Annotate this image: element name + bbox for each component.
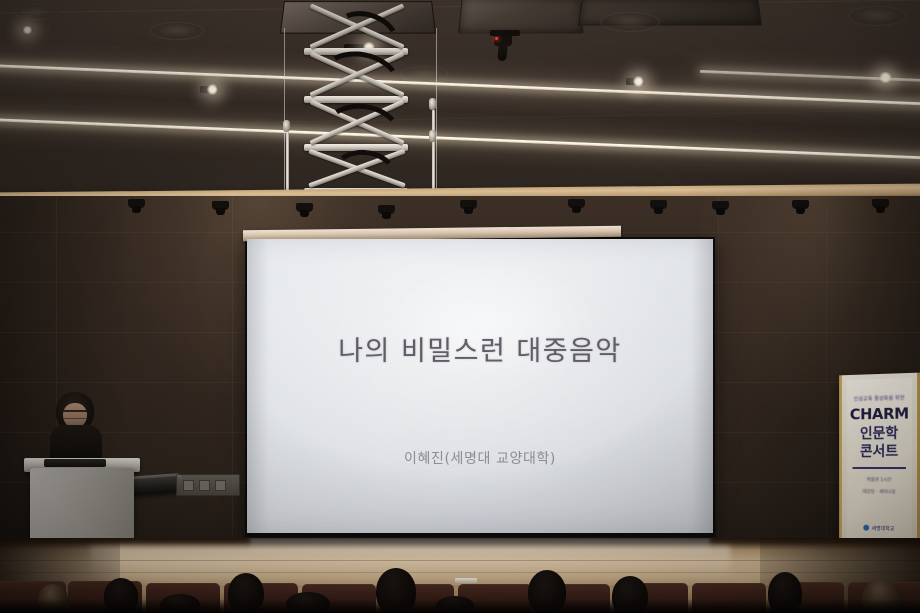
banner-detail-line2: 대강당 · 세미나실 xyxy=(847,489,912,496)
screen-edge-shading-right xyxy=(691,239,713,533)
ceiling-spot-light xyxy=(22,26,33,34)
recessed-light-ring xyxy=(600,12,660,32)
projection-screen: 나의 비밀스런 대중음악 이혜진(세명대 교양대학) xyxy=(247,239,713,533)
auditorium-photo: 나의 비밀스런 대중음악 이혜진(세명대 교양대학) SMU 인성교육 활성화를… xyxy=(0,0,920,613)
banner-face: 인성교육 활성화를 위한 CHARM 인문학 콘서트 박물관 1시간 대강당 ·… xyxy=(847,378,912,552)
ceiling-spot-light xyxy=(878,72,893,83)
eyeglasses-icon xyxy=(63,410,87,419)
roll-up-banner: 인성교육 활성화를 위한 CHARM 인문학 콘서트 박물관 1시간 대강당 ·… xyxy=(839,373,920,558)
banner-logo-text: 세명대학교 xyxy=(872,526,895,533)
university-logo-icon xyxy=(864,525,870,531)
ceiling xyxy=(0,0,920,196)
banner-brand-title: CHARM xyxy=(847,404,912,423)
recessed-light-ring xyxy=(848,6,906,26)
slide-title: 나의 비밀스런 대중음악 xyxy=(247,329,713,368)
lift-rod-joint xyxy=(283,120,290,132)
ceiling-led-strip xyxy=(0,118,920,160)
banner-detail-line1: 박물관 1시간 xyxy=(847,477,912,483)
ceiling-access-panel xyxy=(458,0,583,33)
presenter xyxy=(48,392,104,464)
indicator-led-icon xyxy=(495,37,498,40)
foreground-shadow xyxy=(0,599,920,613)
banner-kicker-text: 인성교육 활성화를 위한 xyxy=(847,394,912,403)
ceiling-spot-light xyxy=(632,76,645,87)
banner-subtitle-line2: 콘서트 xyxy=(847,441,912,461)
podium-monitor-slot xyxy=(44,459,106,467)
wall-control-panel xyxy=(176,474,240,496)
screen-edge-shading-left xyxy=(247,239,269,533)
ceiling-spot-light xyxy=(206,84,219,95)
recessed-light-ring xyxy=(150,22,204,40)
spotlight-mount xyxy=(490,30,520,36)
banner-divider xyxy=(853,467,906,469)
audience-seating-row xyxy=(0,560,920,613)
lift-rod-joint xyxy=(429,130,436,142)
banner-organization-logo: 세명대학교 xyxy=(847,524,912,533)
recessed-light-ring xyxy=(14,4,60,20)
ceiling-led-strip xyxy=(0,64,920,106)
lift-rod-joint xyxy=(429,98,436,110)
slide-subtitle: 이혜진(세명대 교양대학) xyxy=(247,448,713,468)
spotlight-barrel xyxy=(497,44,508,62)
